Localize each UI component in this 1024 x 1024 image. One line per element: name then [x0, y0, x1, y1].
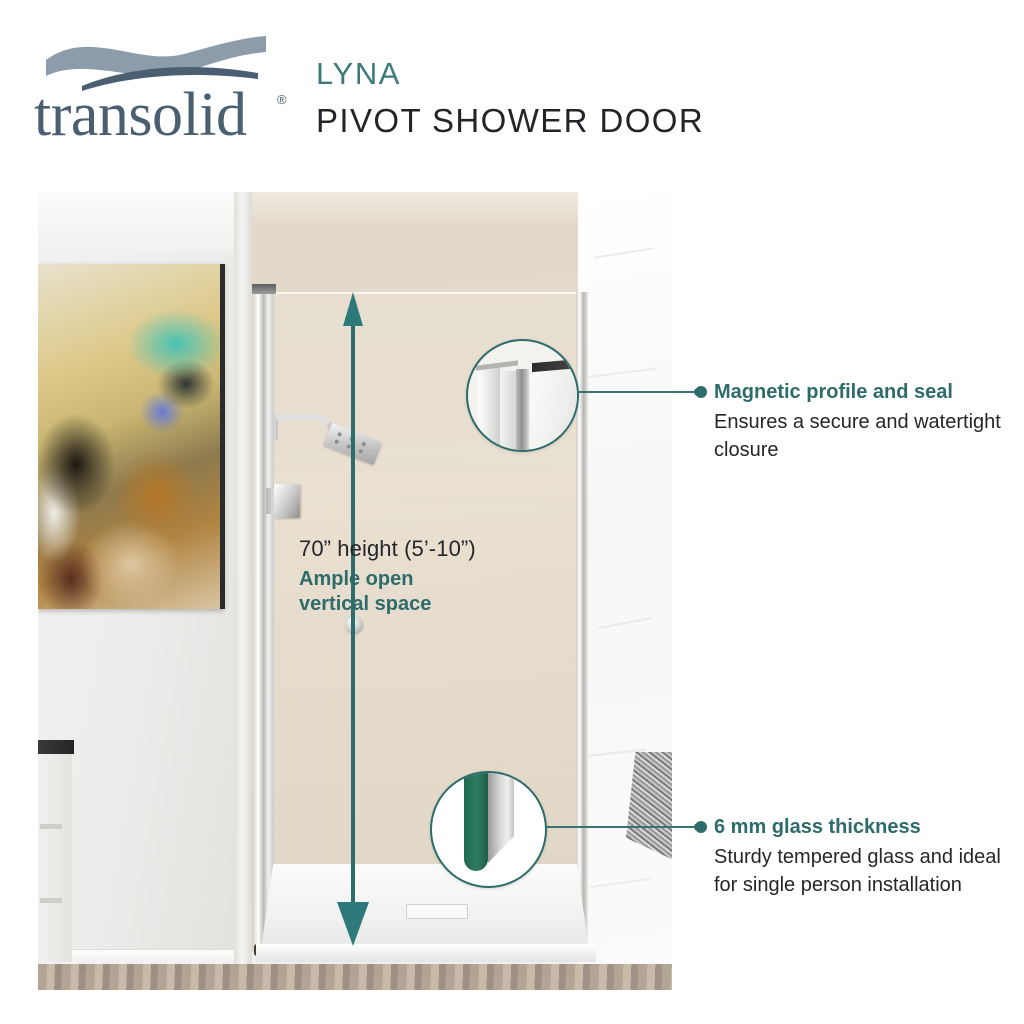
registered-mark-icon: ® — [277, 92, 287, 107]
right-marble-wall — [578, 192, 672, 990]
detail-glass-face — [488, 771, 514, 863]
vanity-countertop — [38, 740, 74, 754]
bullet-icon — [694, 823, 702, 831]
detail-glass-edge — [464, 771, 488, 871]
product-model: LYNA — [316, 56, 704, 92]
height-emphasis-line1: Ample open — [299, 567, 476, 592]
detail-glass-panel-left — [478, 366, 500, 452]
height-emphasis-line2: vertical space — [299, 592, 476, 617]
glass-door-knob — [346, 616, 363, 633]
pivot-hinge — [274, 484, 300, 518]
wall-corner — [234, 192, 252, 982]
wall-art-edge — [220, 264, 225, 609]
left-wall-upper — [38, 192, 243, 254]
height-emphasis: Ample open vertical space — [299, 567, 476, 617]
vanity-cabinet — [38, 747, 72, 962]
callout-magnetic-body: Ensures a secure and watertight closure — [714, 408, 1014, 464]
magnetic-seal-detail-circle — [466, 339, 579, 452]
detail-glass-panel-right — [531, 363, 579, 452]
vanity-handle — [40, 824, 62, 829]
height-measurement-label: 70” height (5’-10”) Ample open vertical … — [299, 535, 476, 617]
brand-wordmark: transolid — [34, 84, 246, 146]
detail-glass-panel-mid — [500, 371, 516, 452]
brand-logo: transolid ® — [34, 32, 299, 152]
shower-base-drain — [406, 904, 468, 919]
callout-magnetic: Magnetic profile and seal Ensures a secu… — [714, 379, 1014, 464]
bullet-icon — [694, 388, 702, 396]
callout-thickness-body: Sturdy tempered glass and ideal for sing… — [714, 843, 1014, 899]
abstract-wall-art — [38, 264, 222, 609]
height-value: 70” height (5’-10”) — [299, 535, 476, 562]
chrome-door-jamb — [254, 288, 274, 948]
title-block: LYNA PIVOT SHOWER DOOR — [316, 56, 704, 140]
glass-thickness-detail-circle — [430, 771, 547, 888]
vanity-handle — [40, 898, 62, 903]
product-name: PIVOT SHOWER DOOR — [316, 102, 704, 140]
header: transolid ® LYNA PIVOT SHOWER DOOR — [0, 0, 1024, 185]
callout-thickness-title: 6 mm glass thickness — [714, 814, 1014, 840]
jamb-top-cap — [252, 284, 276, 294]
shower-ceiling — [252, 192, 584, 226]
shower-base-threshold — [256, 944, 596, 962]
detail-magnetic-profile — [516, 369, 529, 452]
wood-floor — [38, 964, 672, 990]
callout-thickness: 6 mm glass thickness Sturdy tempered gla… — [714, 814, 1014, 899]
callout-magnetic-title: Magnetic profile and seal — [714, 379, 1014, 405]
